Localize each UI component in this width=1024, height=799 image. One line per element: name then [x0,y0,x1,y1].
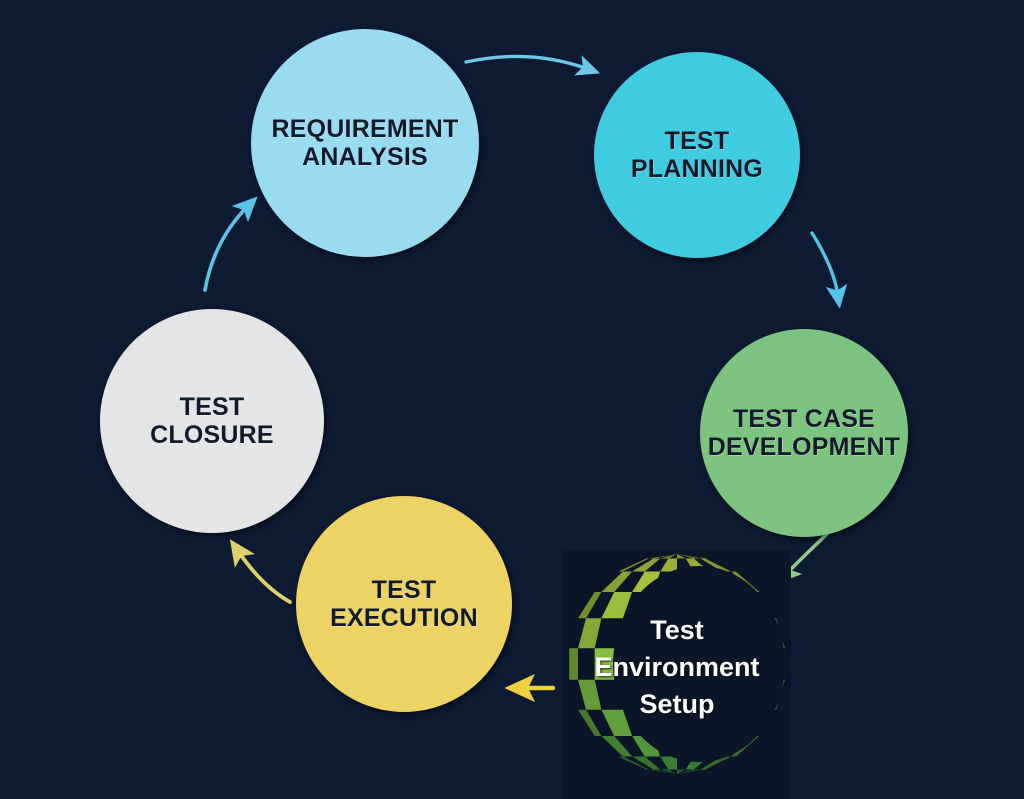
node-test-environment-setup[interactable]: Test Environment Setup [563,550,791,799]
globe-icon [563,550,791,778]
node-requirement-analysis-label: REQUIREMENT ANALYSIS [266,115,465,171]
arrow-test-closure-to-requirement-analysis [205,206,248,290]
arrow-test-case-development-to-test-environment-setup [786,534,827,574]
node-test-closure-label: TEST CLOSURE [144,393,280,449]
node-test-execution-label: TEST EXECUTION [324,576,484,632]
node-test-case-development[interactable]: TEST CASE DEVELOPMENT [700,329,908,537]
node-test-closure[interactable]: TEST CLOSURE [100,309,324,533]
node-requirement-analysis[interactable]: REQUIREMENT ANALYSIS [251,29,479,257]
arrow-test-execution-to-test-closure [238,551,290,602]
stlc-diagram-canvas: REQUIREMENT ANALYSIS TEST PLANNING TEST … [0,0,1024,799]
node-test-planning-label: TEST PLANNING [625,127,769,183]
arrow-requirement-analysis-to-test-planning [466,56,588,69]
node-test-planning[interactable]: TEST PLANNING [594,52,800,258]
arrow-test-planning-to-test-case-development [812,233,838,296]
node-test-execution[interactable]: TEST EXECUTION [296,496,512,712]
node-test-case-development-label: TEST CASE DEVELOPMENT [702,405,907,461]
